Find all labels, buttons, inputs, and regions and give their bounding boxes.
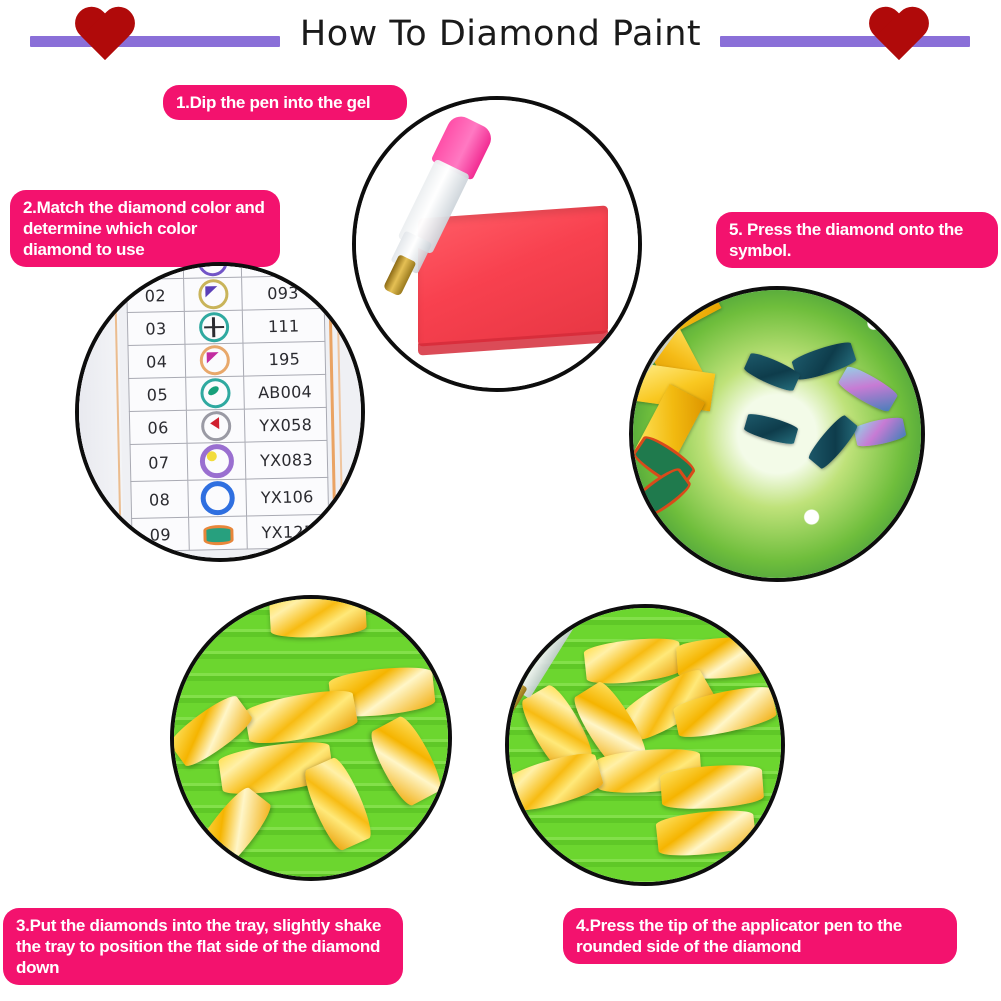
chart-cell-symbol	[186, 376, 245, 410]
step-3-label: 3.Put the diamonds into the tray, slight…	[3, 908, 403, 985]
orange-rule	[335, 262, 344, 562]
page-title: How To Diamond Paint	[0, 14, 1001, 54]
chart-cell-symbol	[187, 442, 246, 480]
chart-cell-symbol	[188, 516, 247, 550]
table-row: 08YX106	[131, 477, 329, 518]
triangle-in-circle-icon	[199, 345, 230, 376]
double-dot-circle-icon	[197, 262, 228, 277]
table-row: 04195	[128, 341, 326, 378]
page-header: How To Diamond Paint	[0, 0, 1001, 75]
step-2-label: 2.Match the diamond color and determine …	[10, 190, 280, 267]
chart-cell-symbol	[183, 277, 242, 311]
chart-cell-code: YX083	[245, 440, 328, 479]
table-row: 09YX125	[132, 514, 330, 551]
chart-cell-number: 03	[127, 311, 185, 345]
yellow-diamond	[269, 595, 367, 639]
step-5-label: 5. Press the diamond onto the symbol.	[716, 212, 998, 268]
chart-cell-code: YX058	[244, 407, 327, 442]
printed-chart-paper: 02002093031110419505AB00406YX05807YX0830…	[75, 262, 365, 562]
chart-cell-symbol	[188, 479, 247, 517]
table-row: 02093	[127, 275, 325, 312]
chart-cell-number: 06	[129, 410, 187, 444]
chevron-left-in-circle-icon	[200, 411, 231, 442]
chart-cell-code: YX125	[247, 514, 330, 549]
step-2-photo: 02002093031110419505AB00406YX05807YX0830…	[75, 262, 365, 562]
chart-cell-number: 08	[131, 480, 189, 518]
chart-cell-code: AB004	[244, 374, 327, 409]
table-row: 05AB004	[129, 374, 327, 411]
chart-cell-number: 02	[127, 278, 185, 312]
table-row: 06YX058	[129, 407, 327, 444]
step-5-photo	[629, 286, 925, 582]
step-3-photo	[170, 595, 452, 881]
color-symbol-table: 02002093031110419505AB00406YX05807YX0830…	[125, 262, 329, 552]
chart-cell-symbol	[184, 310, 243, 344]
table-row: 07YX083	[130, 440, 328, 481]
chart-cell-code: 093	[242, 275, 325, 310]
triangle-in-circle-icon	[198, 279, 229, 310]
chart-cell-number: 09	[132, 517, 190, 551]
oval-in-circle-icon	[200, 378, 231, 409]
chart-cell-number: 05	[129, 377, 187, 411]
step-1-photo	[352, 96, 642, 392]
chart-cell-code: 195	[243, 341, 326, 376]
chart-cell-number: 07	[130, 443, 188, 481]
chart-cell-symbol	[186, 409, 245, 443]
chart-cell-code: 111	[242, 308, 325, 343]
open-ring-icon	[200, 481, 235, 516]
chart-cell-code: YX106	[246, 477, 329, 516]
chart-cell-number: 04	[128, 344, 186, 378]
chart-cell-symbol	[183, 262, 242, 278]
step-4-label: 4.Press the tip of the applicator pen to…	[563, 908, 957, 964]
plus-in-circle-icon	[198, 312, 229, 343]
dot-in-circle-icon	[199, 444, 234, 479]
chart-cell-symbol	[185, 343, 244, 377]
step-4-photo	[505, 604, 785, 886]
leaf-shape-icon	[203, 525, 233, 546]
pen-metal-tip	[383, 254, 417, 296]
table-row: 03111	[127, 308, 325, 345]
